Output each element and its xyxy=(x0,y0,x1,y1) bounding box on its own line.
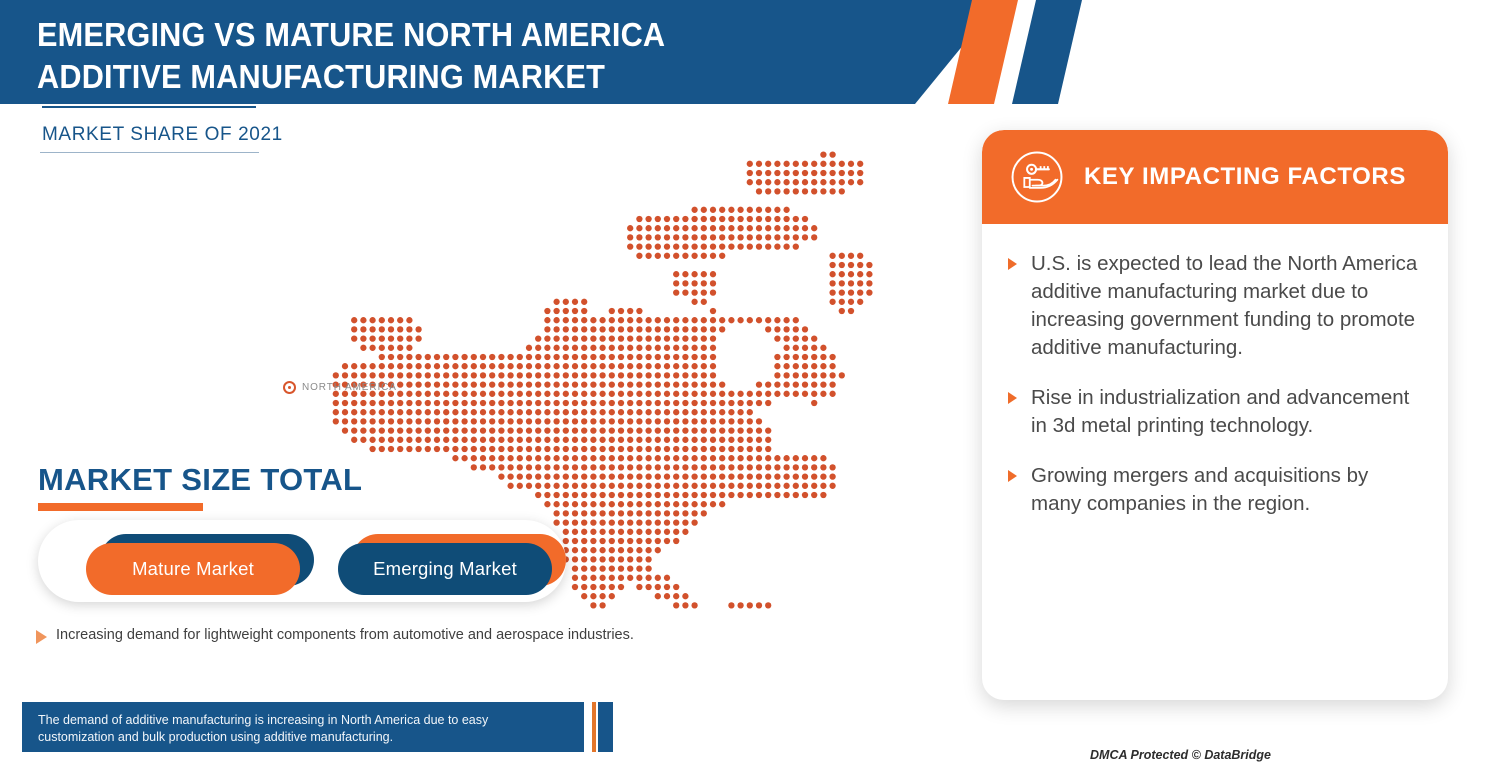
market-share-rule-bottom xyxy=(40,152,259,153)
header-banner: EMERGING VS MATURE NORTH AMERICA ADDITIV… xyxy=(0,0,1100,104)
key-factor-text: Growing mergers and acquisitions by many… xyxy=(1031,462,1424,518)
footer-note-text: The demand of additive manufacturing is … xyxy=(38,712,568,746)
map-region-label: NORTH AMERICA xyxy=(302,382,397,393)
market-pill-card: Mature Market Emerging Market xyxy=(38,520,566,602)
key-factor-item: Rise in industrialization and advancemen… xyxy=(982,374,1448,452)
pill-emerging-label: Emerging Market xyxy=(338,543,552,595)
footer-accent-blue xyxy=(598,702,613,752)
footer-note-bar: The demand of additive manufacturing is … xyxy=(22,702,622,752)
watermark-text: DMCA Protected © DataBridge xyxy=(1090,748,1271,762)
left-bullet-item: Increasing demand for lightweight compon… xyxy=(36,626,636,645)
pill-mature-label: Mature Market xyxy=(86,543,300,595)
pill-mature-market[interactable]: Mature Market xyxy=(86,534,314,586)
market-size-total-title: MARKET SIZE TOTAL xyxy=(38,462,362,498)
key-factors-title: KEY IMPACTING FACTORS xyxy=(1084,163,1406,191)
map-region-marker: NORTH AMERICA xyxy=(283,381,397,394)
triangle-outline-icon xyxy=(36,630,47,644)
target-ring-icon xyxy=(283,381,296,394)
key-factors-list: U.S. is expected to lead the North Ameri… xyxy=(982,224,1448,530)
key-factor-item: Growing mergers and acquisitions by many… xyxy=(982,452,1448,530)
left-bullet-text: Increasing demand for lightweight compon… xyxy=(56,626,634,645)
key-factors-header: KEY IMPACTING FACTORS xyxy=(982,130,1448,224)
key-factor-item: U.S. is expected to lead the North Ameri… xyxy=(982,240,1448,374)
key-factor-text: Rise in industrialization and advancemen… xyxy=(1031,384,1424,440)
footer-accent-orange xyxy=(592,702,596,752)
page-title: EMERGING VS MATURE NORTH AMERICA ADDITIV… xyxy=(37,14,837,98)
infographic-canvas: EMERGING VS MATURE NORTH AMERICA ADDITIV… xyxy=(0,0,1493,769)
hand-holding-key-icon xyxy=(1008,148,1066,206)
header-stripe-blue xyxy=(1012,0,1092,104)
triangle-bullet-icon xyxy=(1008,392,1017,404)
triangle-bullet-icon xyxy=(1008,258,1017,270)
key-factor-text: U.S. is expected to lead the North Ameri… xyxy=(1031,250,1424,362)
market-size-total-block: MARKET SIZE TOTAL xyxy=(38,462,362,511)
pill-emerging-market[interactable]: Emerging Market xyxy=(338,534,566,586)
market-share-label: MARKET SHARE OF 2021 xyxy=(40,108,262,152)
market-share-label-block: MARKET SHARE OF 2021 xyxy=(40,106,262,153)
triangle-bullet-icon xyxy=(1008,470,1017,482)
key-impacting-factors-card: KEY IMPACTING FACTORS U.S. is expected t… xyxy=(982,130,1448,700)
market-size-total-underline xyxy=(38,503,203,511)
